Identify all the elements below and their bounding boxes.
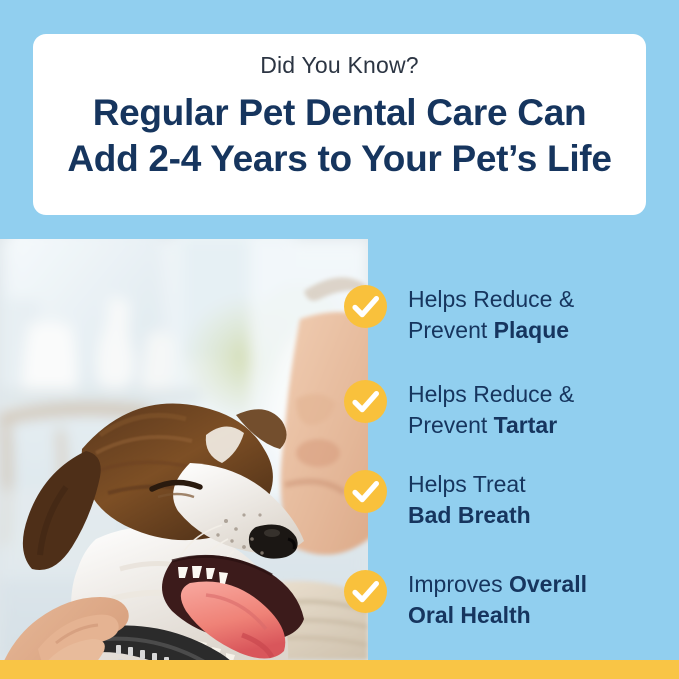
benefit-text: Helps Reduce & Prevent Tartar [408, 379, 574, 441]
benefit-line-1: Helps Reduce & [408, 286, 574, 312]
check-icon [344, 470, 387, 513]
dog-photo [0, 239, 368, 660]
page-title: Regular Pet Dental Care Can Add 2-4 Year… [67, 90, 611, 183]
benefits-list: Helps Reduce & Prevent Plaque Helps Redu… [344, 239, 679, 660]
benefit-line-1: Helps Reduce & [408, 381, 574, 407]
benefit-line-1-bold: Overall [509, 571, 587, 597]
benefit-text: Helps Reduce & Prevent Plaque [408, 284, 574, 346]
list-item: Helps Reduce & Prevent Tartar [344, 379, 574, 441]
infographic-root: Did You Know? Regular Pet Dental Care Ca… [0, 0, 679, 679]
bottom-accent-bar [0, 660, 679, 679]
benefit-line-2-bold: Bad Breath [408, 502, 531, 528]
check-icon [344, 570, 387, 613]
list-item: Improves Overall Oral Health [344, 569, 587, 631]
benefit-line-2-bold: Oral Health [408, 602, 531, 628]
check-icon [344, 380, 387, 423]
benefit-line-2-bold: Plaque [494, 317, 569, 343]
list-item: Helps Reduce & Prevent Plaque [344, 284, 574, 346]
benefit-line-2-plain: Prevent [408, 412, 494, 438]
benefit-line-2-bold: Tartar [494, 412, 558, 438]
dog-photo-illustration [0, 239, 368, 660]
check-icon [344, 285, 387, 328]
benefit-line-1: Helps Treat [408, 471, 526, 497]
headline-card: Did You Know? Regular Pet Dental Care Ca… [33, 34, 646, 215]
benefit-text: Helps Treat Bad Breath [408, 469, 531, 531]
eyebrow-text: Did You Know? [260, 51, 419, 80]
benefit-line-2-plain: Prevent [408, 317, 494, 343]
list-item: Helps Treat Bad Breath [344, 469, 531, 531]
benefit-line-1-plain: Improves [408, 571, 509, 597]
benefit-text: Improves Overall Oral Health [408, 569, 587, 631]
